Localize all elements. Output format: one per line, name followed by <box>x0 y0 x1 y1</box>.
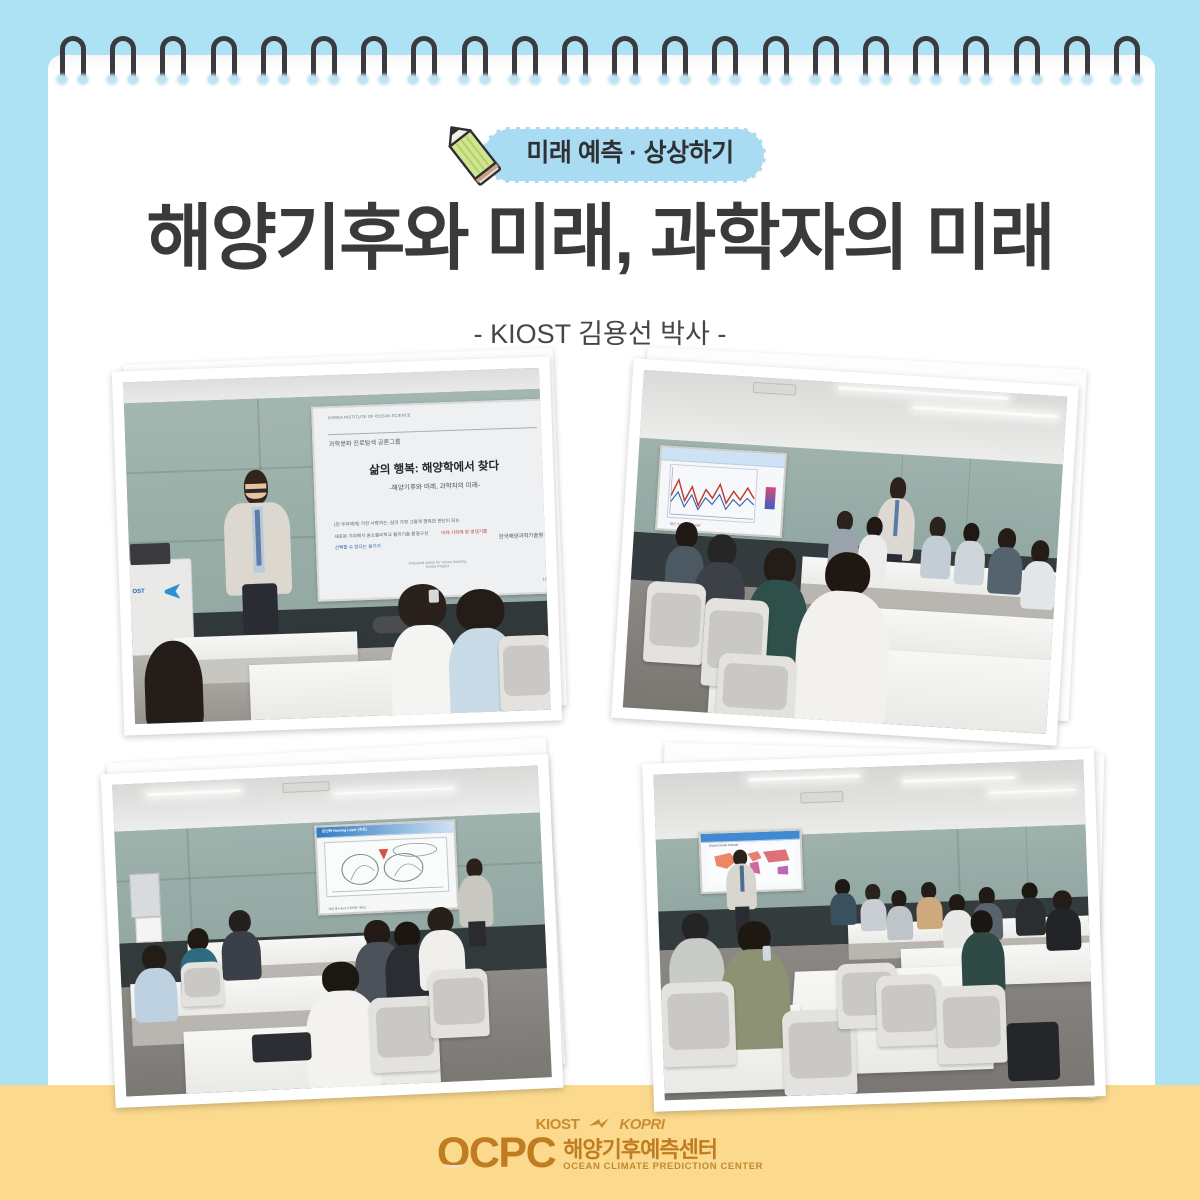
wall-poster <box>129 873 161 918</box>
attendee <box>132 944 178 1021</box>
slide-screen-bottom-left: 온난화 Heating Layer (수온) 해양 열수송과 기후변화 개 <box>314 819 459 916</box>
presenter-top-left <box>222 469 294 629</box>
photo-bottom-left: 온난화 Heating Layer (수온) 해양 열수송과 기후변화 개 <box>101 754 564 1108</box>
smartphone <box>762 945 771 960</box>
ocpc-name-kr: 해양기후예측센터 <box>563 1138 717 1161</box>
photo-top-right: 해양 수온 변동 그래프 <box>611 358 1079 745</box>
backpack <box>1006 1021 1060 1081</box>
attendee <box>1045 890 1081 950</box>
ocpc-name-en: OCEAN CLIMATE PREDICTION CENTER <box>563 1162 763 1172</box>
attendee <box>915 882 942 928</box>
photo-bottom-right: Global Ocean Climate <box>642 748 1106 1112</box>
ocpc-brand-row: OCPC 해양기후예측센터 OCEAN CLIMATE PREDICTION C… <box>437 1134 763 1174</box>
presenter-bottom-right <box>725 849 758 928</box>
attendee <box>136 639 210 724</box>
attendee <box>954 522 987 585</box>
kiost-star-icon <box>588 1117 610 1132</box>
ocpc-acronym-text: OCPC <box>437 1129 555 1177</box>
slide-screen-top-left: KOREA INSTITUTE OF OCEAN SCIENCE 과학문화 진로… <box>311 398 551 601</box>
attendee <box>792 549 896 724</box>
whiteboard <box>135 917 162 943</box>
photo-collage: KOREA INSTITUTE OF OCEAN SCIENCE 과학문화 진로… <box>0 0 1200 1200</box>
attendee <box>886 890 913 940</box>
attendee <box>920 516 953 579</box>
footer-logo: KIOST KOPRI OCPC 해양기후예측센터 OCEAN CLIMATE … <box>0 1116 1200 1174</box>
kopri-logo-text: KOPRI <box>619 1116 664 1133</box>
backpack <box>251 1032 312 1063</box>
attendee <box>860 884 887 930</box>
attendee <box>220 909 261 979</box>
attendee <box>1020 540 1058 610</box>
attendee <box>829 878 856 924</box>
ocpc-acronym: OCPC <box>437 1134 555 1174</box>
attendee <box>959 909 1005 992</box>
attendee <box>987 527 1025 593</box>
photo-top-left: KOREA INSTITUTE OF OCEAN SCIENCE 과학문화 진로… <box>112 356 562 735</box>
attendee <box>1014 882 1046 935</box>
